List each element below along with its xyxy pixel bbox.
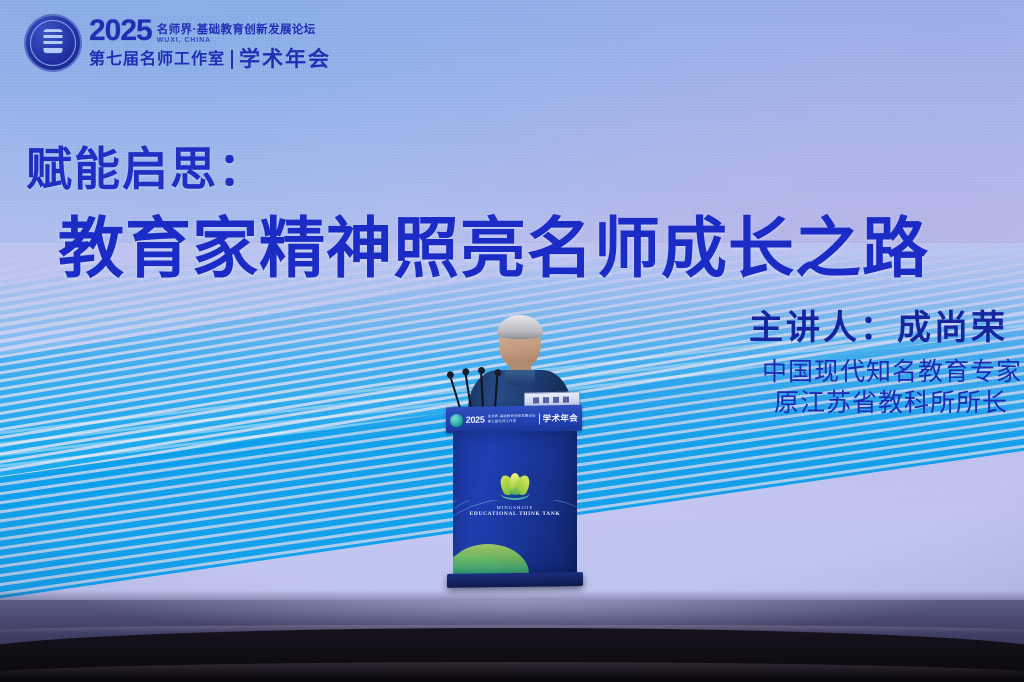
podium-band-annual: 学术年会 — [543, 412, 579, 425]
logo-top-row: 2025 名师界·基础教育创新发展论坛 WUXI, CHINA — [89, 16, 331, 46]
speaker-credential-line-1: 中国现代知名教育专家 — [749, 357, 1022, 388]
conference-stage-photo: 2025 名师界·基础教育创新发展论坛 WUXI, CHINA 第七届名师工作室… — [0, 0, 1024, 682]
slide-kicker: 赋能启思： — [26, 133, 266, 199]
event-logo-lockup: 2025 名师界·基础教育创新发展论坛 WUXI, CHINA 第七届名师工作室… — [26, 16, 331, 70]
podium-band-edition: 第七届名师工作室 — [488, 419, 536, 423]
podium: 2025 名师界·基础教育创新发展论坛 第七届名师工作室 学术年会 MINGSH… — [447, 406, 581, 596]
logo-divider — [231, 50, 233, 69]
logo-annual-meeting: 学术年会 — [239, 49, 331, 70]
speaker-collar — [505, 370, 535, 386]
podium-band-year: 2025 — [466, 415, 485, 425]
speaker-hair — [497, 315, 543, 339]
led-screen-backdrop: 2025 名师界·基础教育创新发展论坛 WUXI, CHINA 第七届名师工作室… — [0, 0, 1024, 607]
logo-edition: 第七届名师工作室 — [89, 52, 225, 68]
speaker-info-block: 主讲人：成尚荣 中国现代知名教育专家 原江苏省教科所所长 — [749, 300, 1008, 418]
logo-forum-title: 名师界·基础教育创新发展论坛 — [157, 25, 316, 37]
podium-front-panel: MINGSHIJIE EDUCATIONAL THINK TANK — [453, 431, 577, 574]
leaf-arc — [500, 486, 530, 500]
podium-logo-band: 2025 名师界·基础教育创新发展论坛 第七届名师工作室 学术年会 — [446, 405, 582, 434]
podium-seal-icon — [450, 413, 463, 426]
logo-year: 2025 — [89, 16, 152, 46]
logo-year-subtext: 名师界·基础教育创新发展论坛 WUXI, CHINA — [157, 25, 316, 47]
logo-bottom-row: 第七届名师工作室 学术年会 — [89, 49, 331, 70]
think-tank-leaf-icon — [501, 473, 529, 499]
slide-headline: 教育家精神照亮名师成长之路 — [58, 195, 929, 291]
podium-band-subtext: 名师界·基础教育创新发展论坛 第七届名师工作室 — [488, 415, 536, 424]
speaker-credential-line-2: 原江苏省教科所所长 — [749, 388, 1008, 419]
podium-base — [447, 572, 583, 588]
conference-seal-emblem-icon — [26, 16, 80, 70]
podium-band-divider — [539, 413, 540, 424]
logo-city-en: WUXI, CHINA — [157, 37, 316, 44]
podium-wave-graphic — [453, 500, 577, 574]
speaker-credentials: 中国现代知名教育专家 原江苏省教科所所长 — [749, 357, 1008, 418]
event-logo-text: 2025 名师界·基础教育创新发展论坛 WUXI, CHINA 第七届名师工作室… — [89, 16, 331, 70]
speaker-name: 主讲人：成尚荣 — [749, 300, 1008, 349]
